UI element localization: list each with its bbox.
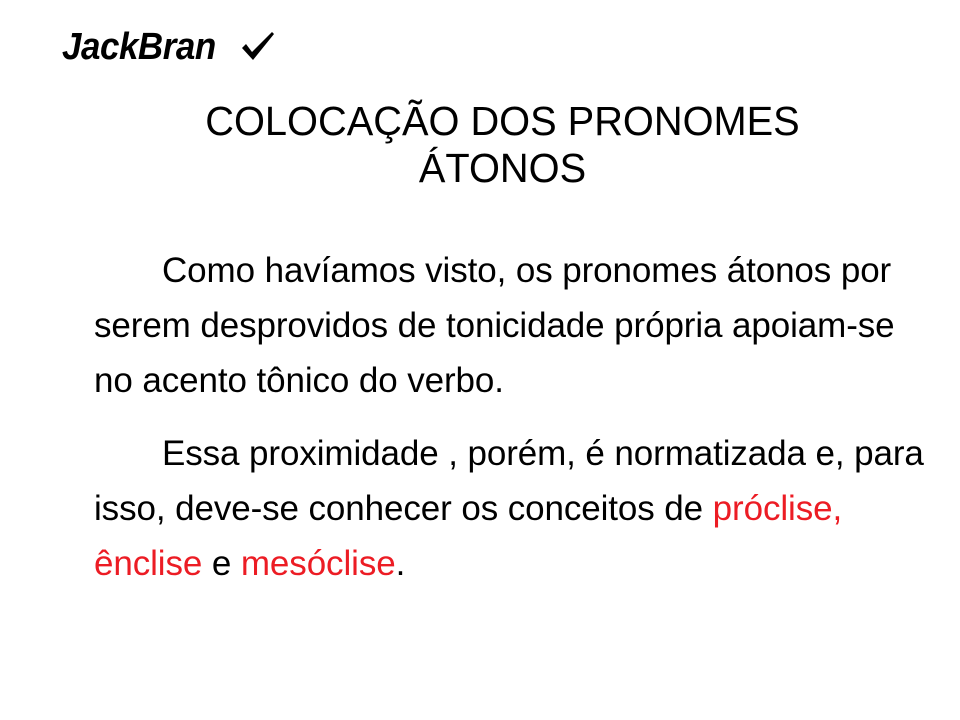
check-mark-icon: [239, 30, 277, 64]
slide-body: Como havíamos visto, os pronomes átonos …: [94, 243, 934, 591]
body-paragraph-2: Essa proximidade , porém, é normatizada …: [94, 426, 934, 591]
term-enclise: ênclise: [94, 544, 202, 583]
slide-canvas: JackBran COLOCAÇÃO DOS PRONOMES ÁTONOS C…: [0, 0, 960, 720]
slide-title-line-1: COLOCAÇÃO DOS PRONOMES: [112, 98, 893, 145]
term-proclise: próclise,: [713, 489, 842, 528]
paragraph-2-final-period: .: [396, 544, 406, 583]
slide-title: COLOCAÇÃO DOS PRONOMES ÁTONOS: [112, 98, 893, 191]
brand-logo: JackBran: [62, 28, 277, 66]
body-paragraph-1: Como havíamos visto, os pronomes átonos …: [94, 243, 934, 408]
term-mesoclise: mesóclise: [241, 544, 396, 583]
slide-title-line-2: ÁTONOS: [112, 145, 893, 192]
paragraph-2-separator-2: e: [202, 544, 241, 583]
brand-wordmark: JackBran: [62, 28, 216, 66]
